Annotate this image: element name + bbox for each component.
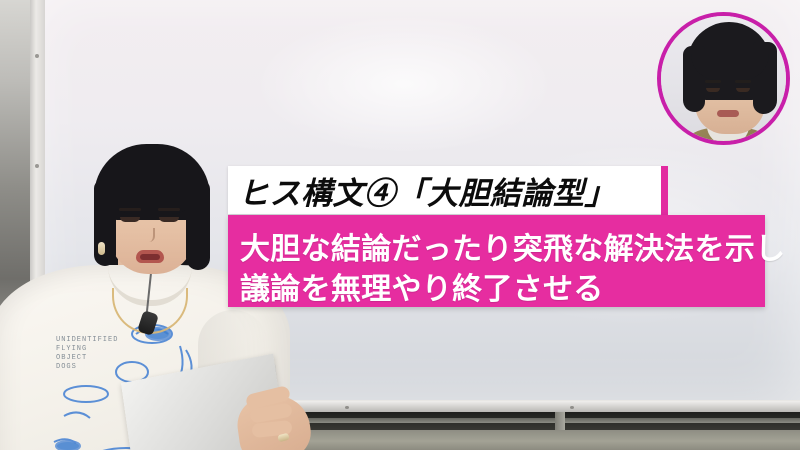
presenter-brow-right: [158, 208, 180, 211]
pip-person-eye-left: [706, 88, 720, 92]
tshirt-print-text: UNIDENTIFIEDFLYINGOBJECTDOGS: [56, 336, 126, 372]
caption-title-box: ヒス構文④「大胆結論型」: [228, 166, 662, 214]
pip-person-mouth: [717, 110, 739, 117]
video-frame: UNIDENTIFIEDFLYINGOBJECTDOGS: [0, 0, 800, 450]
presenter-hair-left: [94, 180, 116, 266]
caption-subtitle-box: 大胆な結論だったり突飛な解決法を示し 議論を無理やり終了させる: [228, 215, 765, 307]
pip-person-eye-right: [736, 88, 750, 92]
caption-accent-bar: [661, 166, 668, 216]
pip-person-hair-right: [753, 42, 777, 114]
presenter-hair-right: [186, 180, 210, 270]
presenter-earring: [98, 242, 105, 255]
reaction-pip-circle: [657, 12, 790, 145]
caption-title: ヒス構文④「大胆結論型」: [238, 166, 662, 214]
caption-subtitle-line-1: 大胆な結論だったり突飛な解決法を示し: [240, 224, 785, 268]
presenter-mouth-inner: [140, 254, 160, 260]
presenter-eye-left: [120, 217, 140, 222]
tray-leg-right: [555, 412, 565, 430]
caption-subtitle-line-2: 議論を無理やり終了させる: [240, 264, 604, 308]
presenter-brow-left: [119, 208, 141, 211]
presenter-eye-right: [159, 217, 179, 222]
pip-content: [661, 16, 786, 141]
